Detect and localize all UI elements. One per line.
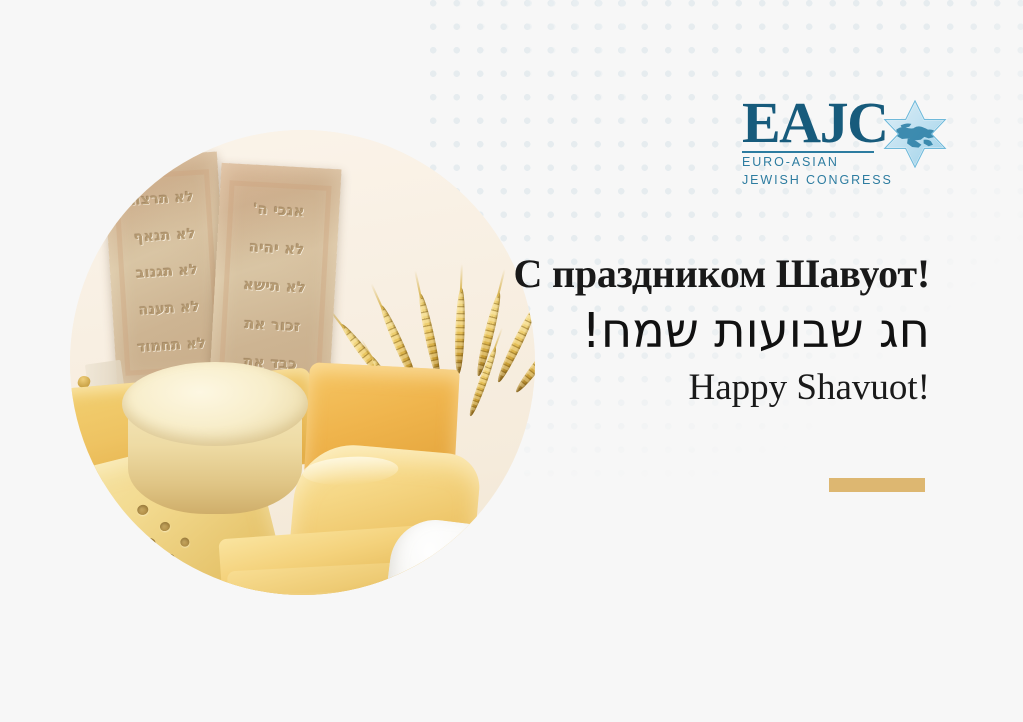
eajc-logo[interactable]: EAJC EURO-ASIAN JEWISH CONGRESS: [742, 96, 947, 188]
cheese-hole: [163, 553, 176, 565]
greeting-block: С праздником Шавуот! חג שבועות שמח! Happ…: [514, 252, 930, 409]
star-of-david-globe-icon: [879, 98, 951, 170]
commandment-line: אנכי ה': [253, 202, 306, 221]
cheese-hole: [143, 537, 157, 551]
cheese-hole: [179, 537, 190, 548]
commandment-line: לא תענה: [138, 299, 200, 319]
cheese-hole: [116, 521, 132, 536]
commandment-line: זכור את: [244, 316, 301, 335]
cheese-hole: [114, 546, 137, 567]
dot-pattern-decoration-secondary: [455, 0, 635, 140]
accent-bar: [829, 478, 925, 492]
commandment-line: לא יהיה: [249, 240, 305, 259]
commandment-line: לא תנאף: [134, 226, 197, 246]
cheese-wheel: [122, 362, 308, 520]
logo-subtitle-line2: JEWISH CONGRESS: [742, 171, 947, 189]
wheat-stalk: [416, 293, 443, 379]
cheese-hole: [159, 521, 171, 532]
greeting-russian: С праздником Шавуот!: [514, 252, 930, 295]
commandment-line: לא תחמוד: [137, 335, 207, 355]
wheat-stalk: [454, 288, 466, 374]
commandment-line: לא תגנוב: [136, 263, 199, 283]
shavuot-photo-circle: לא תרצח לא תנאף לא תגנוב לא תענה לא תחמו…: [70, 130, 535, 595]
commandment-line: לא תישא: [243, 278, 307, 297]
commandment-line: לא תרצח: [131, 189, 195, 209]
cheese-wheel-top: [122, 362, 308, 446]
greeting-english: Happy Shavuot!: [514, 368, 930, 409]
cheese-hole: [86, 509, 106, 528]
greeting-card-canvas: לא תרצח לא תנאף לא תגנוב לא תענה לא תחמו…: [0, 0, 1023, 722]
tablet-left-text: לא תרצח לא תנאף לא תגנוב לא תענה לא תחמו…: [113, 169, 221, 376]
cheese-hole: [165, 578, 181, 593]
greeting-hebrew: חג שבועות שמח!: [514, 303, 930, 360]
photo-scene: לא תרצח לא תנאף לא תגנוב לא תענה לא תחמו…: [70, 130, 535, 595]
cheese-hole: [140, 568, 158, 585]
